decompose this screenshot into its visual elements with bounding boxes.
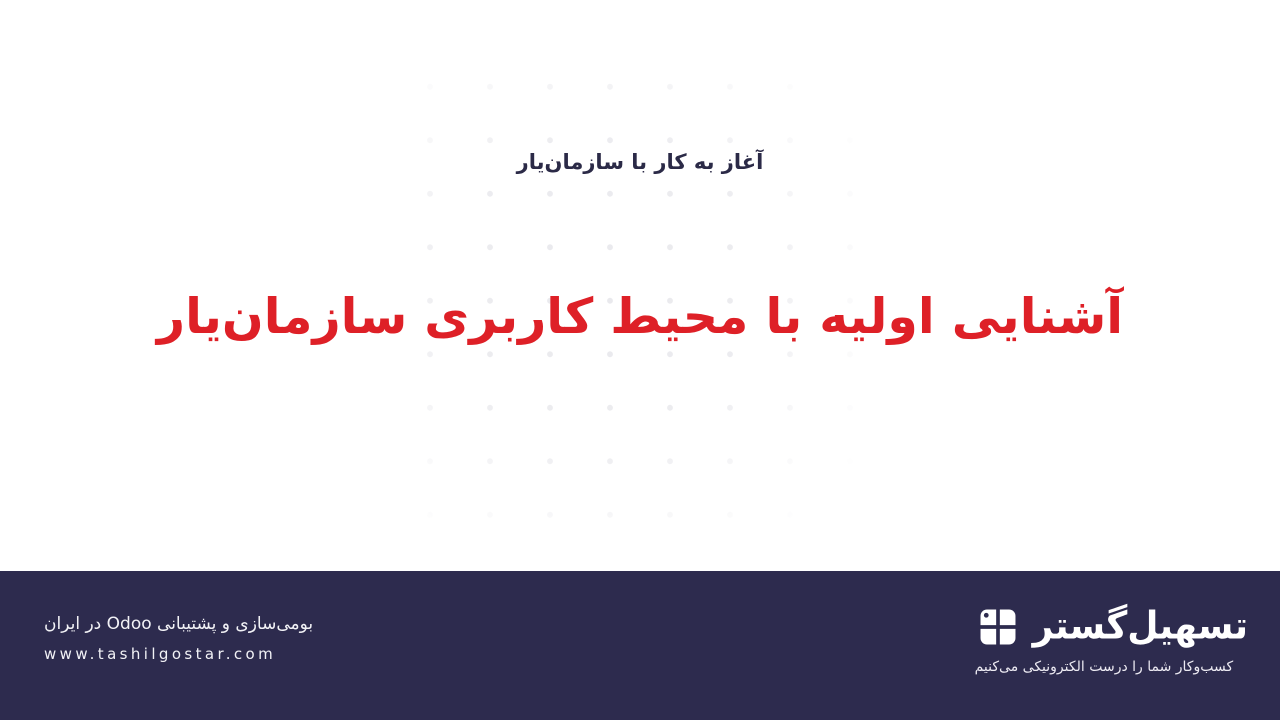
footer-left-block: بومی‌سازی و پشتیبانی Odoo در ایران www.t…	[44, 612, 313, 663]
footer-tagline: بومی‌سازی و پشتیبانی Odoo در ایران	[44, 612, 313, 638]
brand-slogan: کسب‌وکار شما را درست الکترونیکی می‌کنیم	[975, 658, 1234, 678]
brand-wordmark: تسهیل‌گستر	[1033, 608, 1248, 646]
slide-eyebrow: آغاز به کار با سازمان‌یار	[0, 147, 1280, 177]
presentation-slide: آغاز به کار با سازمان‌یار آشنایی اولیه ب…	[0, 0, 1280, 720]
slide-footer: بومی‌سازی و پشتیبانی Odoo در ایران www.t…	[0, 571, 1280, 720]
slide-content: آغاز به کار با سازمان‌یار آشنایی اولیه ب…	[0, 0, 1280, 571]
footer-website-url[interactable]: www.tashilgostar.com	[44, 645, 313, 663]
four-petal-flower-icon	[975, 604, 1021, 650]
brand-block: تسهیل‌گستر کسب‌وکار شما را درست الکترونی…	[975, 604, 1248, 678]
slide-title: آشنایی اولیه با محیط کاربری سازمان‌یار	[0, 285, 1280, 349]
brand-logo-row: تسهیل‌گستر	[975, 604, 1248, 650]
